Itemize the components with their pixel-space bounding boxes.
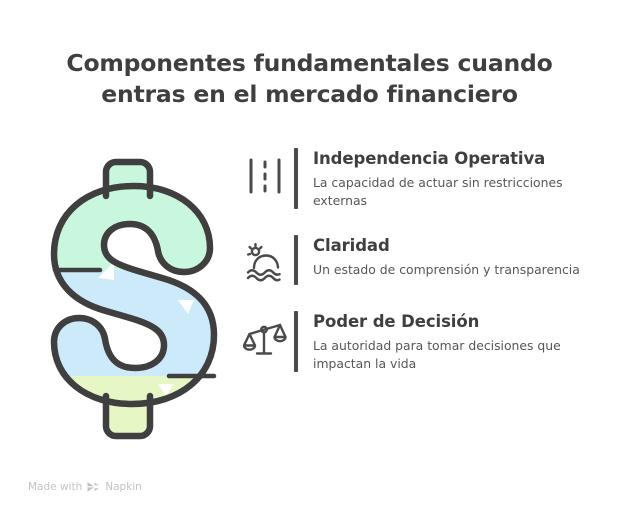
item-body: La capacidad de actuar sin restricciones…: [313, 174, 606, 209]
item-text-block: Poder de Decisión La autoridad para toma…: [313, 311, 606, 372]
item-divider-bar: [294, 311, 298, 372]
page-title-line-1: Componentes fundamentales cuando: [0, 48, 619, 79]
footer-brand-label: Napkin: [105, 481, 142, 493]
list-spacer: [236, 209, 606, 235]
item-divider-bar: [294, 148, 298, 209]
road-icon: [236, 148, 294, 198]
footer-made-with-label: Made with: [28, 481, 82, 493]
dollar-band-bottom: [38, 376, 228, 440]
page-title: Componentes fundamentales cuando entras …: [0, 48, 619, 110]
dollar-sign-graphic: [38, 150, 228, 440]
item-heading: Claridad: [313, 235, 606, 256]
list-item[interactable]: Independencia Operativa La capacidad de …: [236, 148, 606, 209]
feature-list: Independencia Operativa La capacidad de …: [236, 148, 606, 372]
item-text-block: Independencia Operativa La capacidad de …: [313, 148, 606, 209]
item-heading: Poder de Decisión: [313, 311, 606, 332]
footer-attribution[interactable]: Made with Napkin: [28, 481, 142, 493]
item-divider-bar: [294, 235, 298, 285]
item-body: Un estado de comprensión y transparencia: [313, 261, 606, 279]
page-title-line-2: entras en el mercado financiero: [0, 79, 619, 110]
item-body: La autoridad para tomar decisiones que i…: [313, 337, 606, 372]
balance-scales-icon: [236, 311, 294, 361]
list-item[interactable]: Poder de Decisión La autoridad para toma…: [236, 311, 606, 372]
item-heading: Independencia Operativa: [313, 148, 606, 169]
list-spacer: [236, 285, 606, 311]
item-text-block: Claridad Un estado de comprensión y tran…: [313, 235, 606, 279]
sun-cloud-waves-icon: [236, 235, 294, 285]
napkin-logo-icon: [87, 481, 100, 493]
list-item[interactable]: Claridad Un estado de comprensión y tran…: [236, 235, 606, 285]
